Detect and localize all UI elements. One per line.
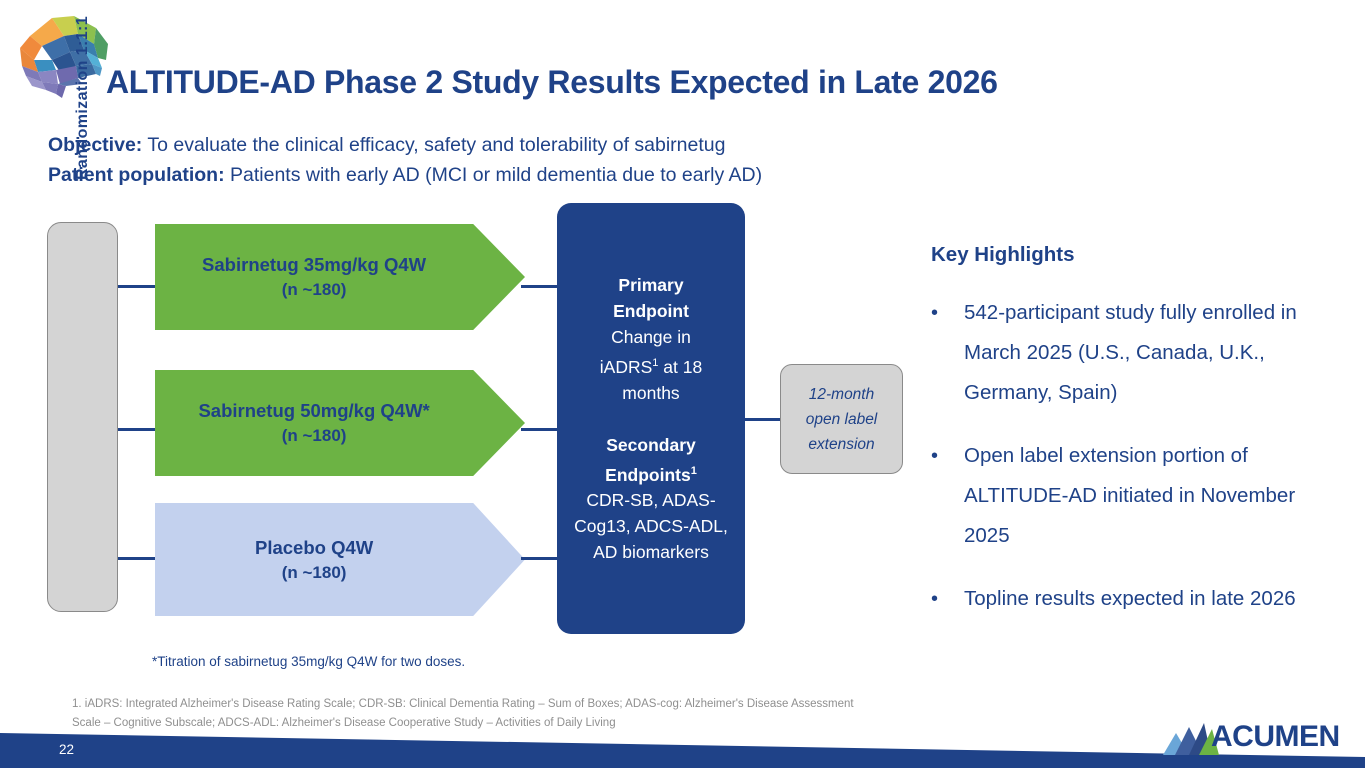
key-highlight-text: Open label extension portion of ALTITUDE… — [964, 436, 1346, 556]
secondary-endpoint-heading-line1: Secondary — [606, 432, 695, 458]
secondary-endpoint-line3: AD biomarkers — [593, 539, 709, 565]
open-label-line2: open label — [806, 407, 878, 432]
secondary-endpoint-line1: CDR-SB, ADAS- — [586, 487, 715, 513]
endpoints-box: Primary Endpoint Change in iADRS1 at 18 … — [557, 203, 745, 634]
randomization-label: Randomization 1:1:1 — [47, 0, 118, 293]
connector-endpoints-openlabel — [742, 418, 782, 421]
study-arm-sabirnetug-35mg: Sabirnetug 35mg/kg Q4W (n ~180) — [155, 224, 525, 330]
connector-randomization-arm1 — [118, 285, 158, 288]
acumen-wordmark: ACUMEN — [1211, 720, 1340, 754]
study-arm-n: (n ~180) — [181, 424, 447, 448]
page-number: 22 — [59, 742, 74, 757]
reference-footnote: 1. iADRS: Integrated Alzheimer's Disease… — [72, 695, 862, 732]
study-arm-n: (n ~180) — [181, 278, 447, 302]
key-highlight-text: 542-participant study fully enrolled in … — [964, 293, 1346, 413]
study-arm-title: Placebo Q4W — [181, 535, 447, 561]
open-label-line1: 12-month — [809, 382, 874, 407]
titration-footnote: *Titration of sabirnetug 35mg/kg Q4W for… — [152, 654, 465, 669]
study-design-diagram: Randomization 1:1:1 Sabirnetug 35mg/kg Q… — [0, 0, 960, 700]
key-highlights-section: Key Highlights • 542-participant study f… — [931, 243, 1346, 642]
connector-arm3-endpoints — [521, 557, 561, 560]
primary-endpoint-line2: iADRS1 at 18 — [600, 350, 702, 380]
study-arm-title: Sabirnetug 35mg/kg Q4W — [181, 252, 447, 278]
study-arm-placebo: Placebo Q4W (n ~180) — [155, 503, 525, 616]
open-label-extension-box: 12-month open label extension — [780, 364, 903, 474]
study-arm-sabirnetug-50mg: Sabirnetug 50mg/kg Q4W* (n ~180) — [155, 370, 525, 476]
key-highlight-text: Topline results expected in late 2026 — [964, 579, 1346, 619]
connector-arm2-endpoints — [521, 428, 561, 431]
footnote-marker: 1 — [691, 465, 697, 477]
connector-randomization-arm2 — [118, 428, 158, 431]
study-arm-title: Sabirnetug 50mg/kg Q4W* — [181, 398, 447, 424]
bullet-glyph: • — [931, 579, 964, 619]
key-highlights-title: Key Highlights — [931, 243, 1346, 267]
primary-endpoint-timing: at 18 — [658, 357, 702, 377]
connector-randomization-arm3 — [118, 557, 158, 560]
secondary-endpoint-line2: Cog13, ADCS-ADL, — [574, 513, 728, 539]
primary-endpoint-heading-line1: Primary — [618, 272, 683, 298]
open-label-line3: extension — [808, 432, 874, 457]
secondary-endpoint-heading-line2: Endpoints1 — [605, 458, 697, 488]
slide-canvas: ALTITUDE-AD Phase 2 Study Results Expect… — [0, 0, 1365, 768]
bullet-glyph: • — [931, 293, 964, 413]
secondary-endpoint-heading-text: Endpoints — [605, 464, 691, 484]
bullet-glyph: • — [931, 436, 964, 556]
key-highlight-item: • Open label extension portion of ALTITU… — [931, 436, 1346, 556]
primary-endpoint-measure: iADRS — [600, 357, 653, 377]
primary-endpoint-heading-line2: Endpoint — [613, 298, 689, 324]
primary-endpoint-line3: months — [622, 380, 679, 406]
key-highlight-item: • 542-participant study fully enrolled i… — [931, 293, 1346, 413]
connector-arm1-endpoints — [521, 285, 561, 288]
study-arm-n: (n ~180) — [181, 561, 447, 585]
primary-endpoint-line1: Change in — [611, 324, 691, 350]
key-highlight-item: • Topline results expected in late 2026 — [931, 579, 1346, 619]
